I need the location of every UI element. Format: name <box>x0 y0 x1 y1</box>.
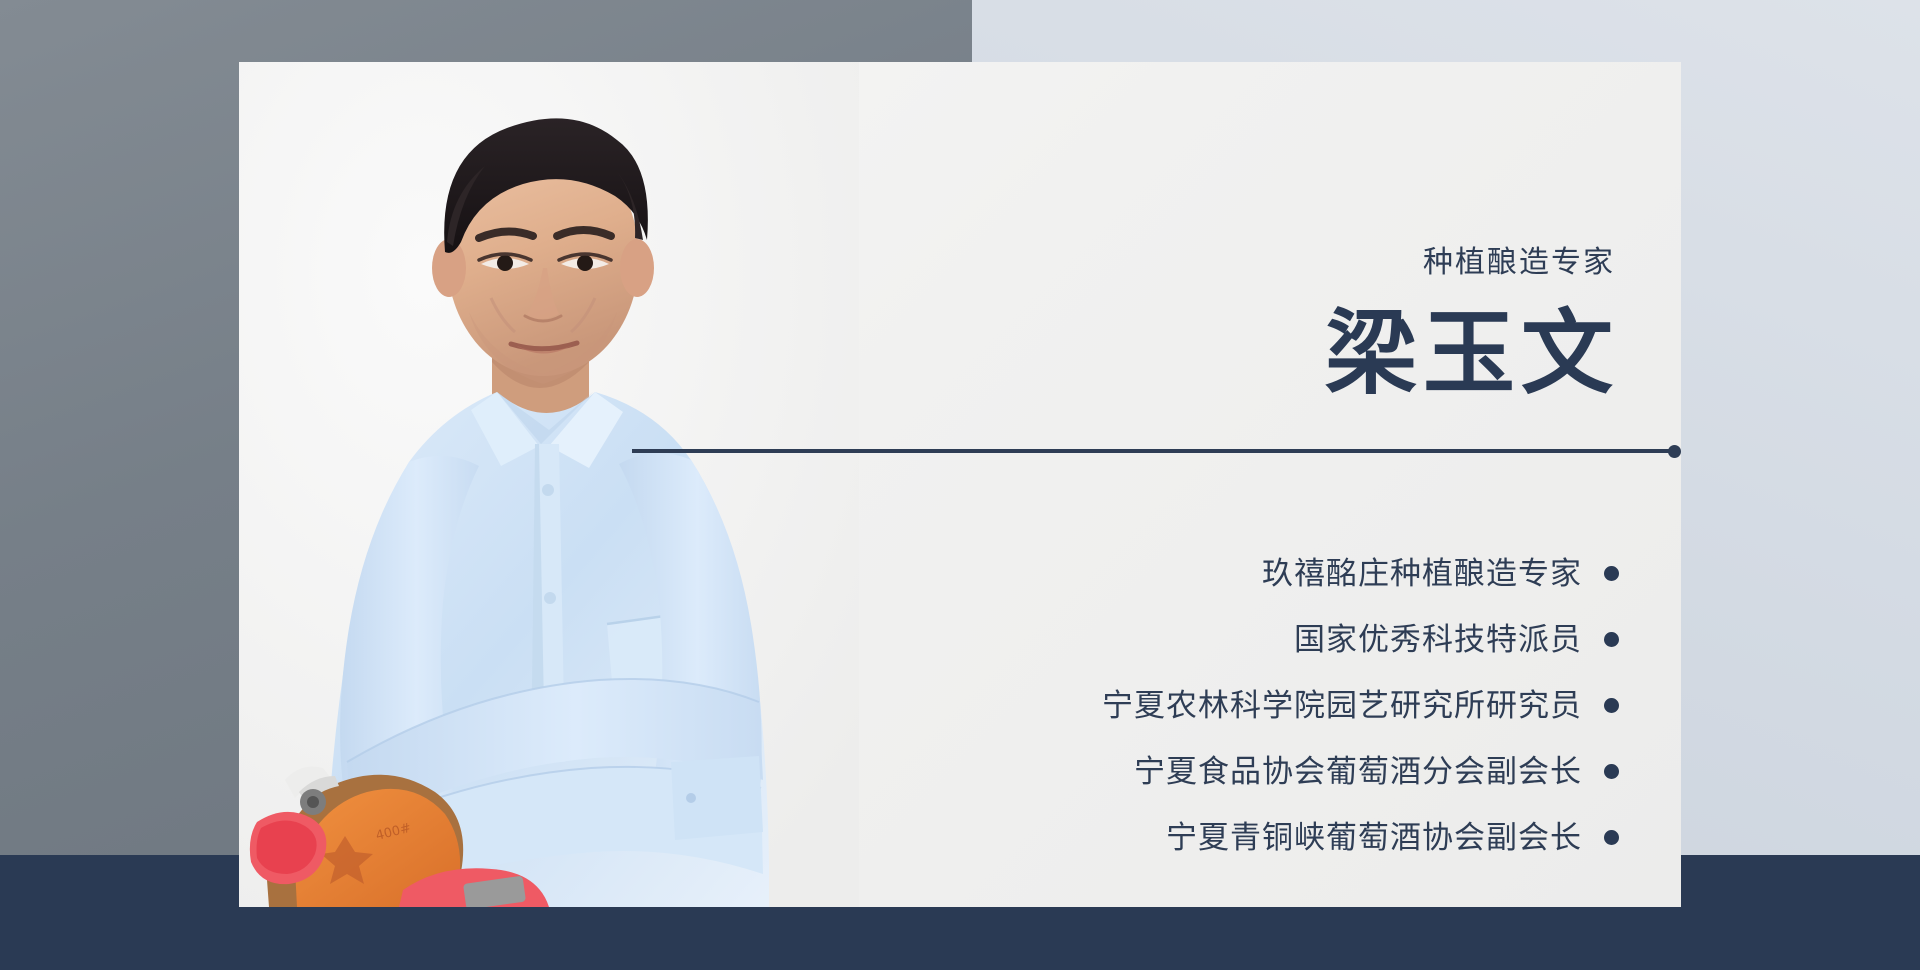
list-item: 国家优秀科技特派员 <box>999 606 1619 672</box>
poster-canvas: 400# <box>0 0 1920 970</box>
portrait-photo: 400# <box>239 62 859 907</box>
bullet-dot-icon <box>1604 830 1619 845</box>
divider <box>632 444 1681 458</box>
bullet-dot-icon <box>1604 764 1619 779</box>
credential-label: 宁夏青铜峡葡萄酒协会副会长 <box>1166 822 1582 853</box>
list-item: 宁夏食品协会葡萄酒分会副会长 <box>999 738 1619 804</box>
credential-label: 玖禧酩庄种植酿造专家 <box>1262 558 1582 589</box>
profile-subtitle: 种植酿造专家 <box>1423 248 1615 278</box>
list-item: 宁夏青铜峡葡萄酒协会副会长 <box>999 804 1619 870</box>
profile-info: 种植酿造专家 梁玉文 玖禧酩庄种植酿造专家 国家优秀科技特派员 宁夏农林科学院园… <box>999 62 1681 907</box>
credential-label: 宁夏食品协会葡萄酒分会副会长 <box>1134 756 1582 787</box>
list-item: 玖禧酩庄种植酿造专家 <box>999 540 1619 606</box>
credential-label: 国家优秀科技特派员 <box>1294 624 1582 655</box>
divider-end-dot <box>1668 445 1681 458</box>
credential-label: 宁夏农林科学院园艺研究所研究员 <box>1102 690 1582 721</box>
bullet-dot-icon <box>1604 698 1619 713</box>
credentials-list: 玖禧酩庄种植酿造专家 国家优秀科技特派员 宁夏农林科学院园艺研究所研究员 宁夏食… <box>999 540 1619 870</box>
divider-line <box>632 449 1669 453</box>
list-item: 宁夏农林科学院园艺研究所研究员 <box>999 672 1619 738</box>
bullet-dot-icon <box>1604 566 1619 581</box>
profile-name: 梁玉文 <box>1325 302 1619 408</box>
bullet-dot-icon <box>1604 632 1619 647</box>
profile-card: 400# <box>239 62 1681 907</box>
